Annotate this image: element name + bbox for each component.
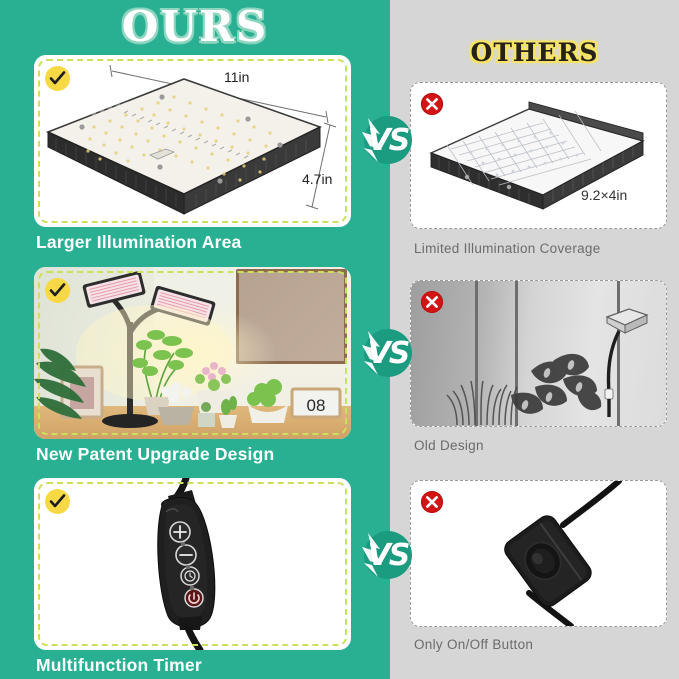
- room-scene-svg: 08: [34, 267, 351, 439]
- infographic-root: OURS OTHERS: [0, 0, 679, 679]
- vs-label: VS: [360, 325, 416, 381]
- vs-badge-2: VS: [360, 325, 416, 381]
- svg-text:08: 08: [307, 396, 326, 415]
- others-label-illumination: Limited Illumination Coverage: [414, 241, 601, 256]
- others-heading: OTHERS: [390, 38, 679, 67]
- others-card-old-design: [410, 280, 667, 427]
- others-card-illumination: 9.2×4in: [410, 82, 667, 229]
- others-label-old-design: Old Design: [414, 438, 484, 453]
- check-icon: [45, 489, 70, 514]
- vs-label: VS: [360, 112, 416, 168]
- x-icon: [421, 291, 443, 313]
- rocker-switch-illustration: [411, 481, 666, 626]
- led-panel-svg: [34, 55, 351, 227]
- others-dimension-label: 9.2×4in: [581, 187, 627, 203]
- ours-card-timer: [34, 478, 351, 650]
- x-icon: [421, 491, 443, 513]
- check-icon: [45, 66, 70, 91]
- small-led-panel-svg: [411, 83, 666, 228]
- small-led-panel-illustration: [411, 83, 666, 228]
- led-panel-illustration: [34, 55, 351, 227]
- ours-label-patent-design: New Patent Upgrade Design: [36, 444, 274, 465]
- old-design-illustration: [411, 281, 666, 426]
- dimension-length-label: 11in: [224, 69, 249, 85]
- timer-controller-illustration: [34, 478, 351, 650]
- others-label-onoff: Only On/Off Button: [414, 637, 533, 652]
- old-design-svg: [411, 281, 666, 426]
- vs-label: VS: [360, 527, 416, 583]
- rocker-switch-svg: [411, 481, 666, 626]
- check-icon: [45, 278, 70, 303]
- dimension-width-label: 4.7in: [302, 171, 332, 187]
- vs-badge-3: VS: [360, 527, 416, 583]
- timer-controller-svg: [34, 478, 351, 650]
- vs-badge-1: VS: [360, 112, 416, 168]
- ours-heading: OURS: [0, 2, 390, 51]
- ours-label-timer: Multifunction Timer: [36, 655, 202, 676]
- room-scene-illustration: 08: [34, 267, 351, 439]
- ours-label-illumination: Larger Illumination Area: [36, 232, 241, 253]
- ours-card-illumination: 11in 4.7in: [34, 55, 351, 227]
- others-card-onoff: [410, 480, 667, 627]
- x-icon: [421, 93, 443, 115]
- ours-card-patent-design: 08: [34, 267, 351, 439]
